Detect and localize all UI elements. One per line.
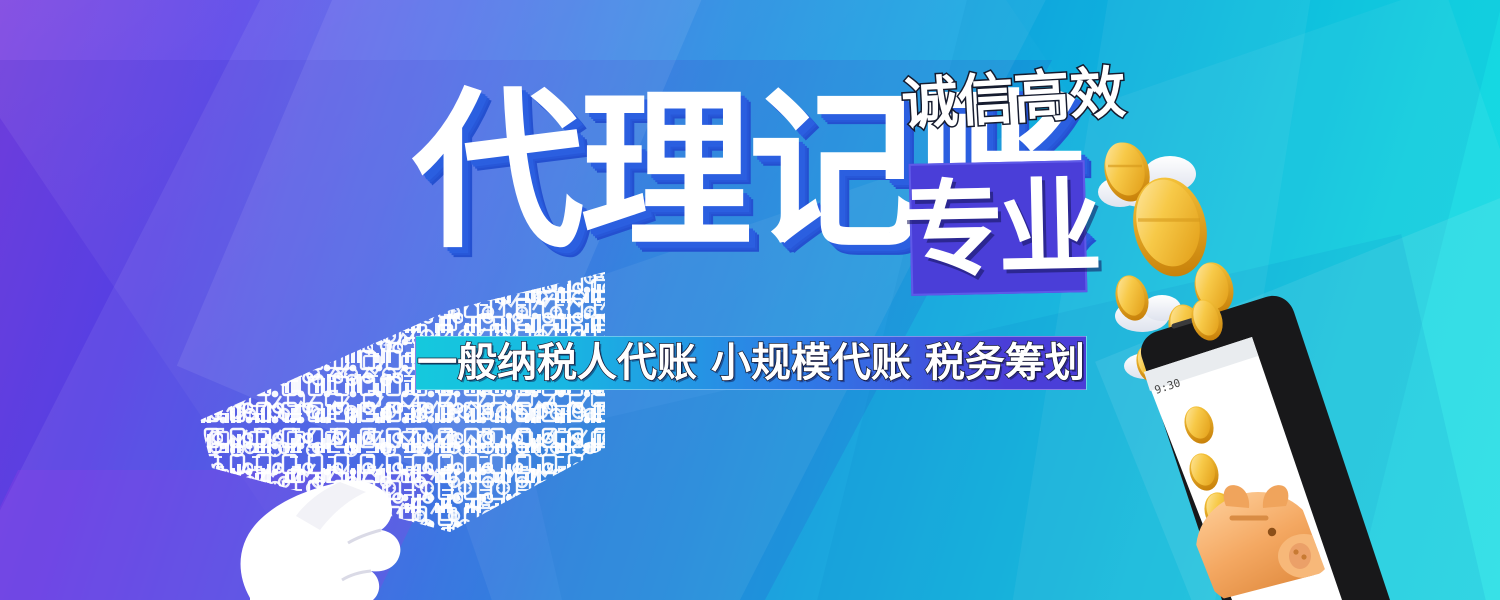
coins-phone-artwork: 9:30 [1090, 120, 1420, 600]
services-bar: 一般纳税人代账 小规模代账 税务筹划 [415, 336, 1087, 390]
services-bar-text: 一般纳税人代账 小规模代账 税务筹划 [417, 343, 1085, 383]
hand-icon [190, 420, 450, 600]
status-badge: 专业 [917, 166, 1080, 291]
tagline-text: 诚信高效 [900, 66, 1127, 134]
promo-banner: 9:30 [0, 0, 1500, 600]
